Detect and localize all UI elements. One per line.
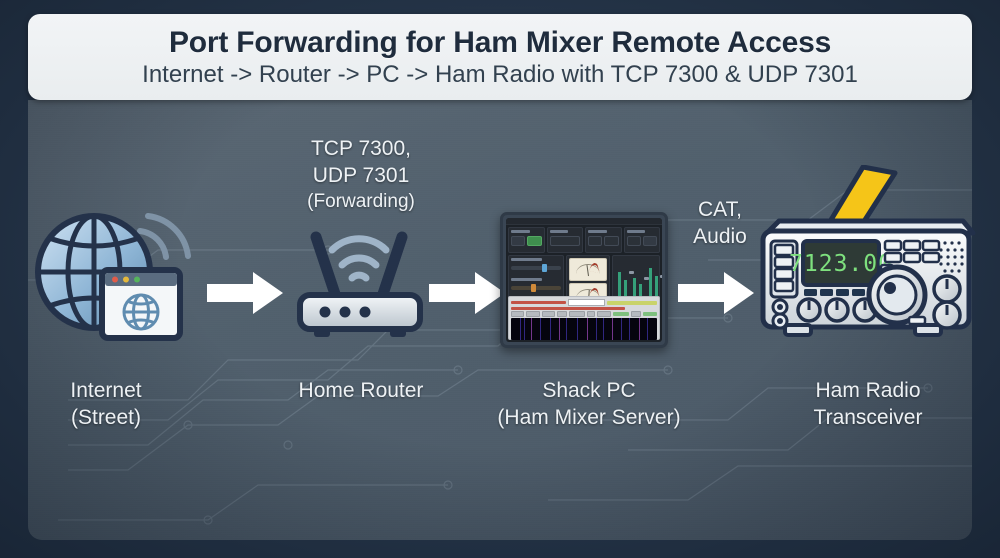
globe-icon — [28, 188, 208, 348]
ham-mixer-software-screen — [506, 218, 662, 342]
page-title: Port Forwarding for Ham Mixer Remote Acc… — [169, 27, 831, 59]
vu-meter — [569, 258, 607, 281]
waterfall-input-row — [511, 299, 657, 306]
caption-ham-radio: Ham Radio Transceiver — [768, 378, 968, 432]
caption-home-router: Home Router — [266, 378, 456, 405]
software-toolbar-row — [506, 225, 662, 255]
transceiver-icon: 7123.00 — [745, 165, 985, 355]
level-slider — [511, 266, 561, 270]
arrow-right-icon — [676, 268, 756, 323]
annotation-cat-line2: Audio — [660, 223, 780, 250]
caption-shack-pc: Shack PC (Ham Mixer Server) — [454, 378, 724, 432]
software-titlebar — [506, 218, 662, 225]
caption-shack-pc-line2: (Ham Mixer Server) — [454, 405, 724, 432]
arrow-right-icon — [205, 268, 285, 323]
toolbar-group-source — [585, 227, 622, 253]
arrow-right-icon — [427, 268, 507, 323]
balance-slider — [511, 286, 561, 290]
caption-ham-radio-line2: Transceiver — [768, 405, 968, 432]
annotation-ports-line3: (Forwarding) — [266, 190, 456, 215]
annotation-ports-line1: TCP 7300, — [266, 135, 456, 162]
annotation-ports: TCP 7300, UDP 7301 (Forwarding) — [266, 135, 456, 214]
page-subtitle: Internet -> Router -> PC -> Ham Radio wi… — [142, 62, 858, 87]
caption-internet-line1: Internet — [16, 378, 196, 405]
waterfall-button-row — [511, 311, 657, 317]
waterfall-panel — [508, 296, 660, 340]
infographic-frame: Port Forwarding for Ham Mixer Remote Acc… — [0, 0, 1000, 558]
annotation-cat-line1: CAT, — [660, 196, 780, 223]
caption-internet: Internet (Street) — [16, 378, 196, 432]
waterfall-message-row — [511, 307, 657, 310]
toolbar-group-output — [624, 227, 661, 253]
annotation-ports-line2: UDP 7301 — [266, 162, 456, 189]
annotation-cat-audio: CAT, Audio — [660, 196, 780, 251]
monitor-icon — [500, 212, 668, 348]
caption-shack-pc-line1: Shack PC — [454, 378, 724, 405]
caption-home-router-line1: Home Router — [266, 378, 456, 405]
toolbar-group-transmit — [547, 227, 584, 253]
header-card: Port Forwarding for Ham Mixer Remote Acc… — [28, 14, 972, 100]
router-icon — [280, 215, 440, 345]
caption-ham-radio-line1: Ham Radio — [768, 378, 968, 405]
caption-internet-line2: (Street) — [16, 405, 196, 432]
spectrum-waterfall-display — [511, 318, 657, 340]
toolbar-group-audio-device — [508, 227, 545, 253]
